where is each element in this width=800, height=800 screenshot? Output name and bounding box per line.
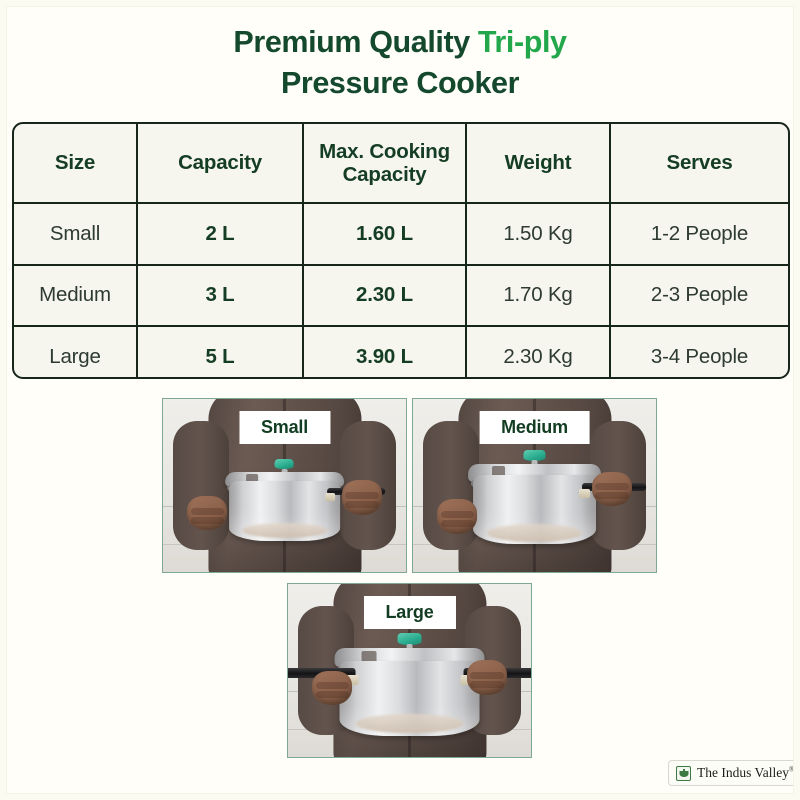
brand-name: The Indus Valley: [697, 765, 789, 780]
table-row: Large 5 L 3.90 L 2.30 Kg 3-4 People: [14, 326, 788, 379]
cooker-lug-right: [325, 493, 335, 501]
column-header-max-cooking-capacity: Max. Cooking Capacity: [303, 124, 466, 203]
specifications-table: Size Capacity Max. Cooking Capacity Weig…: [12, 122, 790, 379]
column-header-capacity: Capacity: [137, 124, 303, 203]
cooker-body: [229, 481, 341, 540]
cell-serves: 1-2 People: [610, 203, 788, 265]
person-left-hand: [312, 671, 352, 706]
person-left-hand: [187, 496, 227, 531]
cell-weight: 1.50 Kg: [466, 203, 610, 265]
product-photo-card-large: Large: [287, 583, 532, 758]
pressure-cooker-medium-icon: [473, 456, 597, 544]
cell-capacity: 2 L: [137, 203, 303, 265]
page-title-highlight: Tri-ply: [478, 25, 567, 59]
cell-capacity: 3 L: [137, 265, 303, 327]
cooker-body: [339, 661, 480, 737]
cell-weight: 2.30 Kg: [466, 326, 610, 379]
column-header-serves: Serves: [610, 124, 788, 203]
indus-valley-plant-mark-icon: [676, 766, 691, 781]
table-header: Size Capacity Max. Cooking Capacity Weig…: [14, 124, 788, 203]
card-label-small: Small: [239, 411, 330, 444]
page-title-line2: Pressure Cooker: [40, 63, 760, 104]
card-label-large: Large: [363, 596, 455, 629]
cell-weight: 1.70 Kg: [466, 265, 610, 327]
cell-size: Small: [14, 203, 137, 265]
brand-logo-text: The Indus Valley®: [697, 765, 794, 781]
cell-max-cooking-capacity: 2.30 L: [303, 265, 466, 327]
cooker-body: [473, 475, 597, 544]
product-photo-card-small: Small: [162, 398, 407, 573]
cooker-knob-icon: [275, 459, 294, 469]
column-header-max-cooking-capacity-line2: Capacity: [343, 163, 427, 186]
column-header-size-label: Size: [55, 151, 95, 174]
column-header-size: Size: [14, 124, 137, 203]
pressure-cooker-large-icon: [339, 639, 480, 736]
column-header-max-cooking-capacity-line1: Max. Cooking: [319, 140, 450, 163]
table-row: Small 2 L 1.60 L 1.50 Kg 1-2 People: [14, 203, 788, 265]
product-photo-card-medium: Medium: [412, 398, 657, 573]
column-header-weight-label: Weight: [505, 151, 572, 174]
person-left-arm: [173, 421, 229, 549]
cooker-knob-icon: [524, 450, 545, 461]
table-body: Small 2 L 1.60 L 1.50 Kg 1-2 People Medi…: [14, 203, 788, 379]
page-title: Premium Quality Tri-ply Pressure Cooker: [40, 22, 760, 103]
cell-serves: 3-4 People: [610, 326, 788, 379]
person-left-hand: [437, 499, 477, 534]
cell-size: Medium: [14, 265, 137, 327]
cell-max-cooking-capacity: 1.60 L: [303, 203, 466, 265]
cell-capacity: 5 L: [137, 326, 303, 379]
page-title-line1-part1: Premium Quality: [233, 25, 477, 59]
column-header-capacity-label: Capacity: [178, 151, 262, 174]
pressure-cooker-small-icon: [229, 465, 341, 541]
registered-trademark-symbol: ®: [789, 766, 794, 774]
person-right-hand: [592, 472, 632, 507]
cell-size: Large: [14, 326, 137, 379]
person-right-hand: [467, 660, 507, 695]
cooker-lug-right: [579, 489, 590, 498]
card-label-medium: Medium: [479, 411, 590, 444]
table-header-row: Size Capacity Max. Cooking Capacity Weig…: [14, 124, 788, 203]
cell-max-cooking-capacity: 3.90 L: [303, 326, 466, 379]
table-row: Medium 3 L 2.30 L 1.70 Kg 2-3 People: [14, 265, 788, 327]
poster-canvas: Premium Quality Tri-ply Pressure Cooker …: [0, 0, 800, 800]
brand-logo[interactable]: The Indus Valley®: [668, 760, 800, 786]
spec-table-element: Size Capacity Max. Cooking Capacity Weig…: [14, 124, 788, 379]
column-header-weight: Weight: [466, 124, 610, 203]
person-right-hand: [342, 480, 382, 515]
column-header-serves-label: Serves: [666, 151, 732, 174]
cell-serves: 2-3 People: [610, 265, 788, 327]
cooker-knob-icon: [398, 633, 422, 646]
